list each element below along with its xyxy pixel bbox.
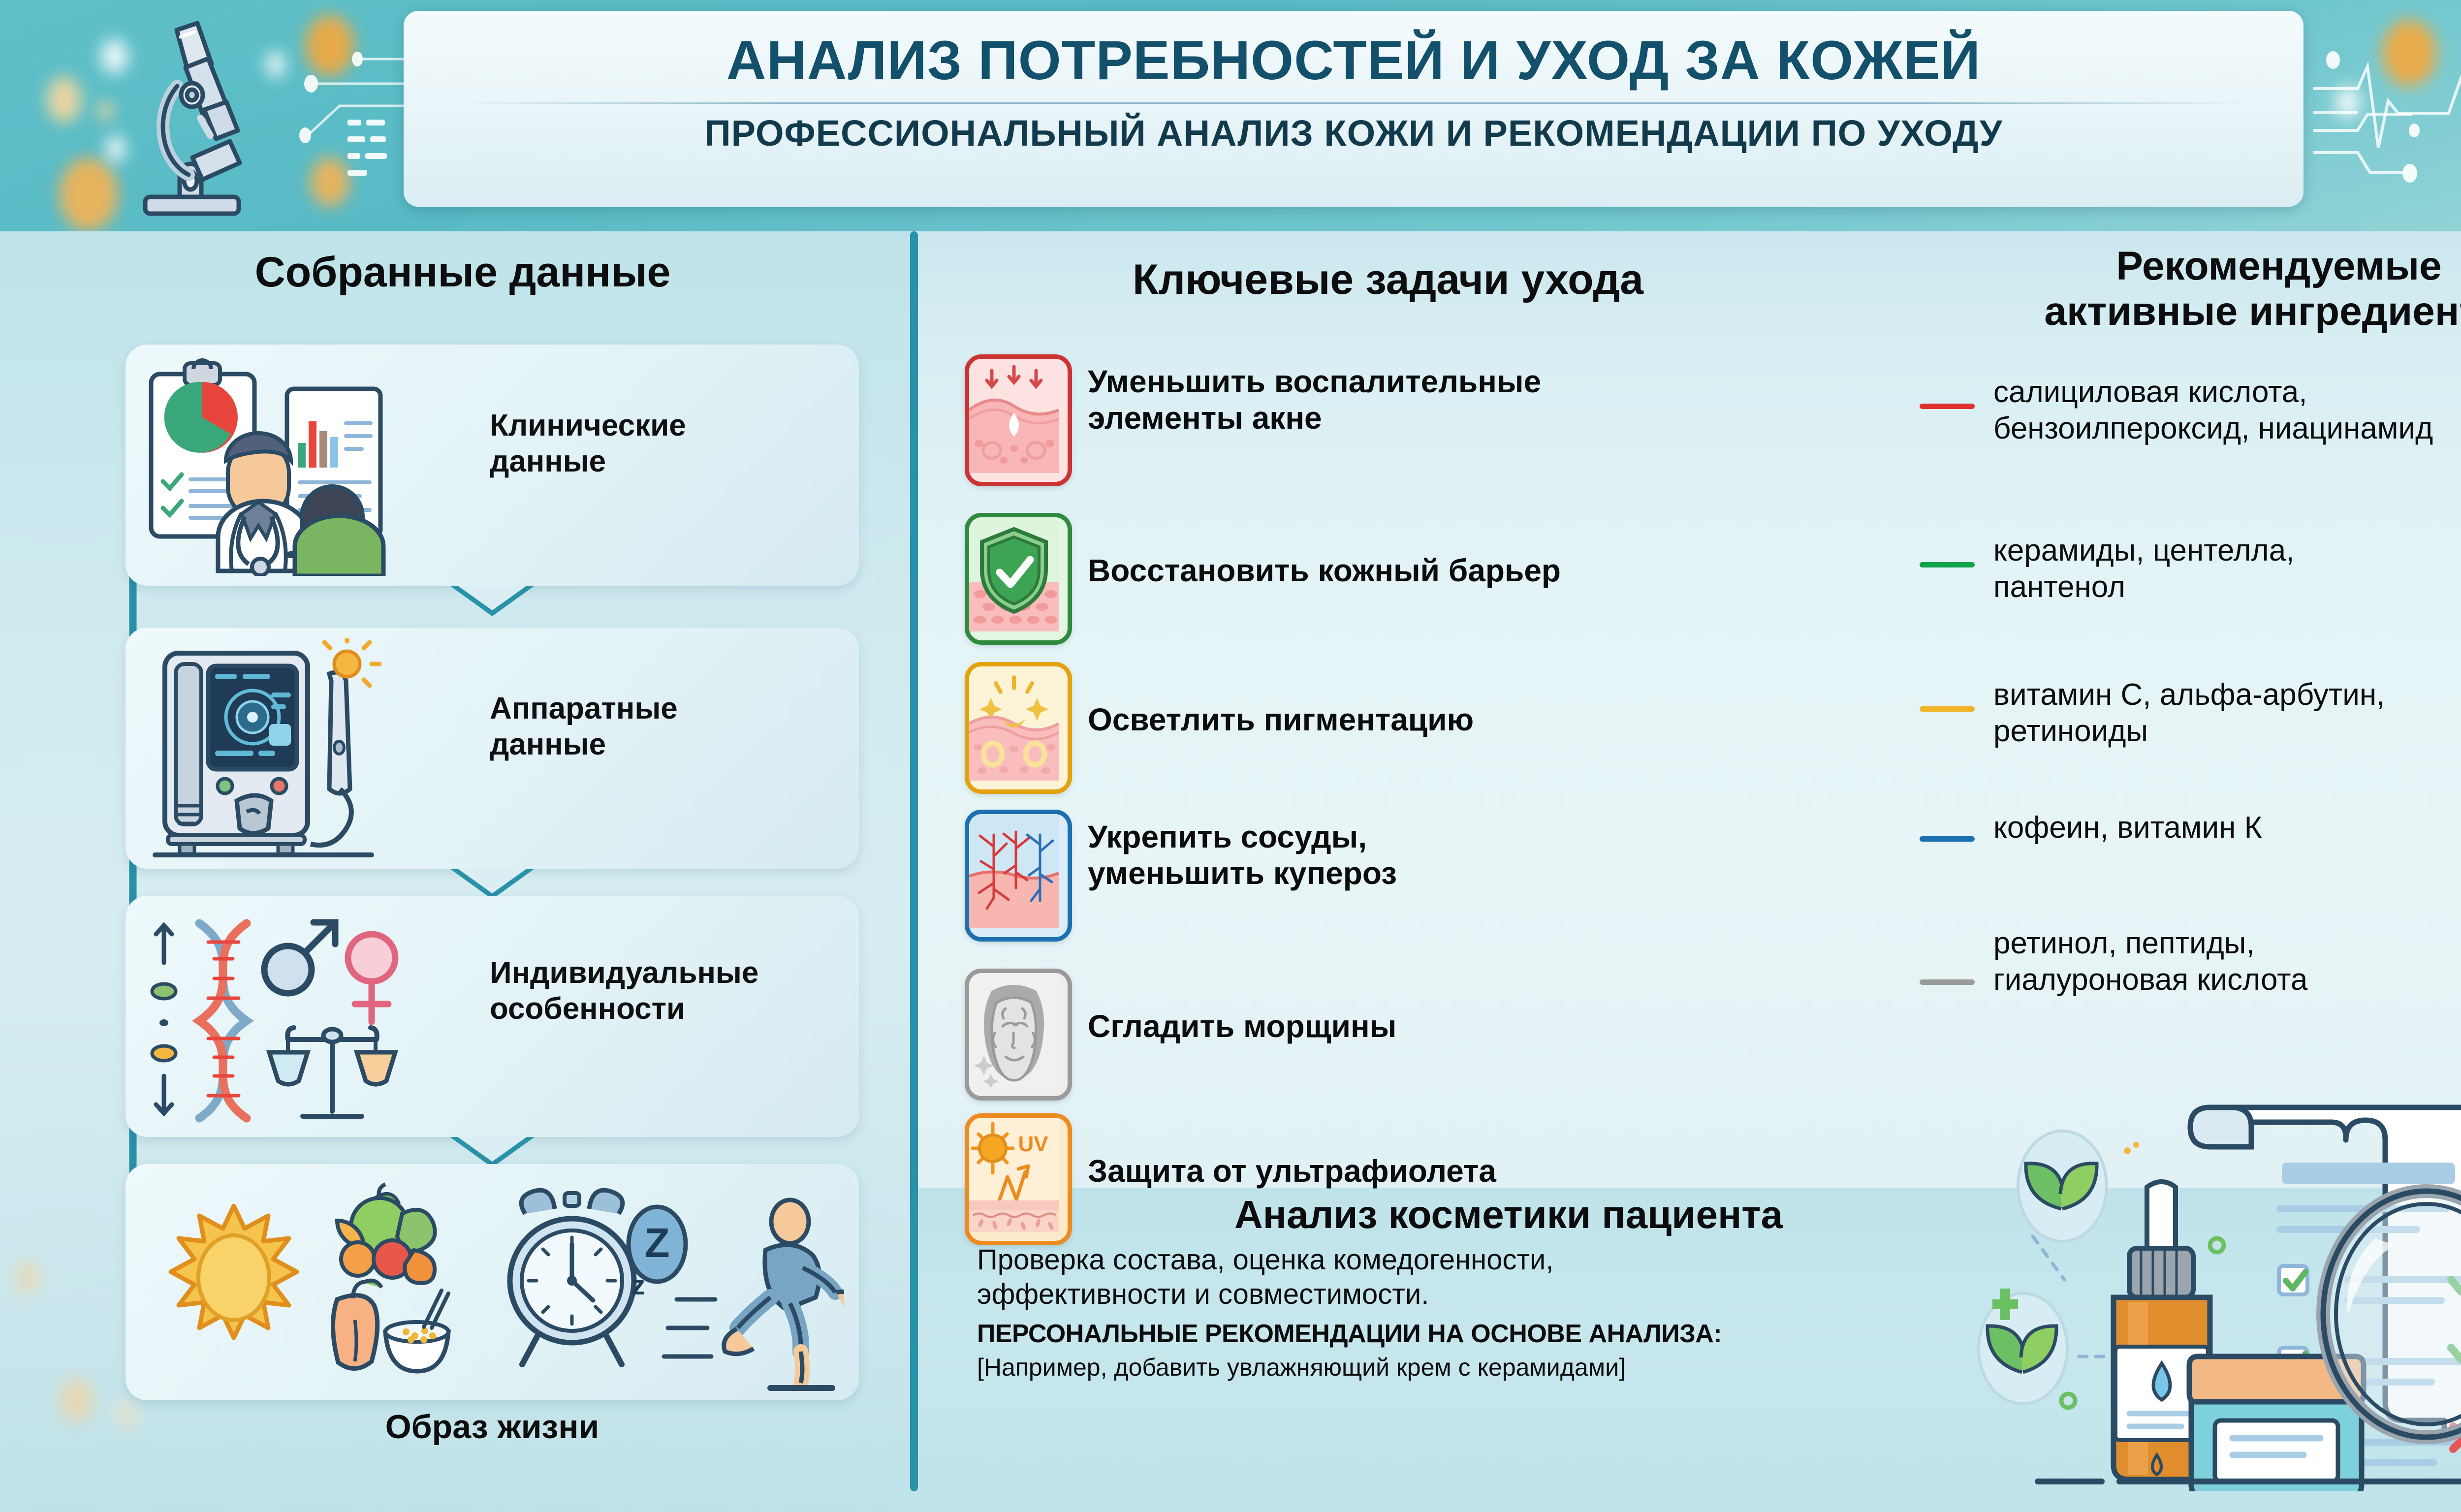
lifestyle-label: Образ жизни <box>126 1408 859 1446</box>
ingredient-line-1: кофеин, витамин К <box>1993 810 2461 846</box>
bokeh-dot <box>14 1260 41 1294</box>
ingredient-line-2: бензоилпероксид, ниацинамид <box>1993 410 2461 447</box>
ingredient-dash <box>1920 836 1975 842</box>
ingredient-dash <box>1920 562 1975 567</box>
title-divider <box>463 102 2244 104</box>
collected-data-card[interactable]: Аппаратные данные <box>126 628 859 869</box>
care-task-label: Осветлить пигментацию <box>1088 701 1777 738</box>
care-task-line-1: Уменьшить воспалительные <box>1088 363 1777 400</box>
ingredient-label: салициловая кислота, бензоилпероксид, ни… <box>1993 374 2461 447</box>
face-wrinkles-icon <box>965 969 1072 1101</box>
card-label: Аппаратные данные <box>490 691 834 762</box>
ingredient-line-1: витамин С, альфа-арбутин, <box>1993 677 2461 713</box>
card-label-line-1: Индивидуальные <box>490 955 844 991</box>
infographic-poster: АНАЛИЗ ПОТРЕБНОСТЕЙ И УХОД ЗА КОЖЕЙ ПРОФ… <box>0 0 2461 1512</box>
care-task-label: Восстановить кожный барьер <box>1088 552 1777 589</box>
care-task-label: Сгладить морщины <box>1088 1008 1777 1044</box>
card-label: Клинические данные <box>490 408 834 479</box>
sleep-z-label-small: z <box>631 1269 645 1300</box>
column-divider <box>910 231 918 1491</box>
ingredient-line-1: салициловая кислота, <box>1993 374 2461 410</box>
ingredient-line-1: ретинол, пептиды, <box>1993 925 2461 962</box>
dna-gender-scales-icon <box>140 905 441 1129</box>
right-column-heading: Рекомендуемые активные ингредиенты <box>1880 244 2461 334</box>
ingredient-label: ретинол, пептиды, гиалуроновая кислота <box>1993 925 2461 999</box>
right-heading-line-2: активные ингредиенты <box>1880 289 2461 334</box>
shield-barrier-icon <box>965 513 1072 645</box>
collected-data-card[interactable]: Z z <box>126 1164 859 1400</box>
ingredient-dash <box>1920 404 1975 409</box>
collected-data-card[interactable]: Индивидуальные особенности <box>126 896 859 1137</box>
care-task-label: Уменьшить воспалительные элементы акне <box>1088 363 1777 436</box>
card-label-line-2: данные <box>490 726 834 762</box>
collected-data-card[interactable]: Клинические данные <box>126 345 859 586</box>
personal-recommendations-example: [Например, добавить увлажняющий крем с к… <box>977 1353 2040 1382</box>
card-notch-inner <box>458 869 527 893</box>
ingredient-label: керамиды, центелла, пантенол <box>1993 533 2461 606</box>
lifestyle-sun-food-clock-runner-icon: Z z <box>145 1171 844 1393</box>
cosmetics-analysis-title: Анализ косметики пациента <box>977 1194 2040 1236</box>
card-label-line-1: Клинические <box>490 408 834 443</box>
ingredient-line-2: гиалуроновая кислота <box>1993 962 2461 998</box>
capillaries-couperose-icon <box>965 810 1072 942</box>
ingredient-line-1: керамиды, центелла, <box>1993 533 2461 569</box>
ingredient-label: витамин С, альфа-арбутин, ретиноиды <box>1993 677 2461 750</box>
personal-recommendations-heading: ПЕРСОНАЛЬНЫЕ РЕКОМЕНДАЦИИ НА ОСНОВЕ АНАЛ… <box>977 1320 2040 1349</box>
card-label-line-1: Аппаратные <box>490 691 834 726</box>
sleep-z-label: Z <box>644 1220 669 1266</box>
ingredient-line-2: пантенол <box>1993 569 2461 605</box>
card-notch-inner <box>458 1137 527 1162</box>
middle-column-heading: Ключевые задачи ухода <box>955 256 1821 303</box>
card-notch-inner <box>458 586 527 610</box>
care-task-line-2: уменьшить купероз <box>1088 855 1777 891</box>
diagnostic-device-icon <box>145 638 431 860</box>
card-label-line-2: данные <box>490 443 834 479</box>
title-plate: АНАЛИЗ ПОТРЕБНОСТЕЙ И УХОД ЗА КОЖЕЙ ПРОФ… <box>404 11 2303 207</box>
doctor-patient-clipboard-icon <box>139 354 435 576</box>
care-task-line-1: Сгладить морщины <box>1088 1008 1777 1044</box>
cosmetics-analysis-body: Проверка состава, оценка комедогенности,… <box>977 1243 2040 1311</box>
ingredient-label: кофеин, витамин К <box>1993 810 2461 846</box>
care-task-line-1: Защита от ультрафиолета <box>1088 1153 1777 1189</box>
ingredient-dash <box>1920 979 1975 985</box>
right-heading-line-1: Рекомендуемые <box>1880 244 2461 289</box>
page-subtitle: ПРОФЕССИОНАЛЬНЫЙ АНАЛИЗ КОЖИ И РЕКОМЕНДА… <box>404 112 2303 154</box>
ingredient-line-2: ретиноиды <box>1993 713 2461 750</box>
card-label: Индивидуальные особенности <box>490 955 844 1027</box>
card-label-line-2: особенности <box>490 991 844 1027</box>
cosmetics-body-line-1: Проверка состава, оценка комедогенности, <box>977 1243 2040 1277</box>
cosmetics-analysis-block: Анализ косметики пациента Проверка соста… <box>977 1194 2040 1382</box>
pigmentation-brightening-icon <box>965 662 1072 794</box>
microscope-icon <box>126 12 268 224</box>
care-task-line-2: элементы акне <box>1088 400 1777 436</box>
care-task-line-1: Осветлить пигментацию <box>1088 701 1777 738</box>
uv-badge-text: UV <box>1018 1132 1048 1156</box>
bokeh-dot <box>59 1378 94 1422</box>
header-band: АНАЛИЗ ПОТРЕБНОСТЕЙ И УХОД ЗА КОЖЕЙ ПРОФ… <box>0 0 2461 231</box>
serum-dropper-jar-checklist-magnifier-icon <box>1959 1048 2461 1491</box>
acne-skin-layer-icon <box>965 354 1072 486</box>
care-task-line-1: Укрепить сосуды, <box>1088 819 1777 855</box>
care-task-label: Защита от ультрафиолета <box>1088 1153 1777 1189</box>
care-task-label: Укрепить сосуды, уменьшить купероз <box>1088 819 1777 891</box>
cosmetics-body-line-2: эффективности и совместимости. <box>977 1277 2040 1312</box>
page-title: АНАЛИЗ ПОТРЕБНОСТЕЙ И УХОД ЗА КОЖЕЙ <box>404 29 2303 92</box>
left-column-heading: Собранные данные <box>79 249 847 296</box>
ingredient-dash <box>1920 706 1975 712</box>
care-task-line-1: Восстановить кожный барьер <box>1088 552 1777 589</box>
